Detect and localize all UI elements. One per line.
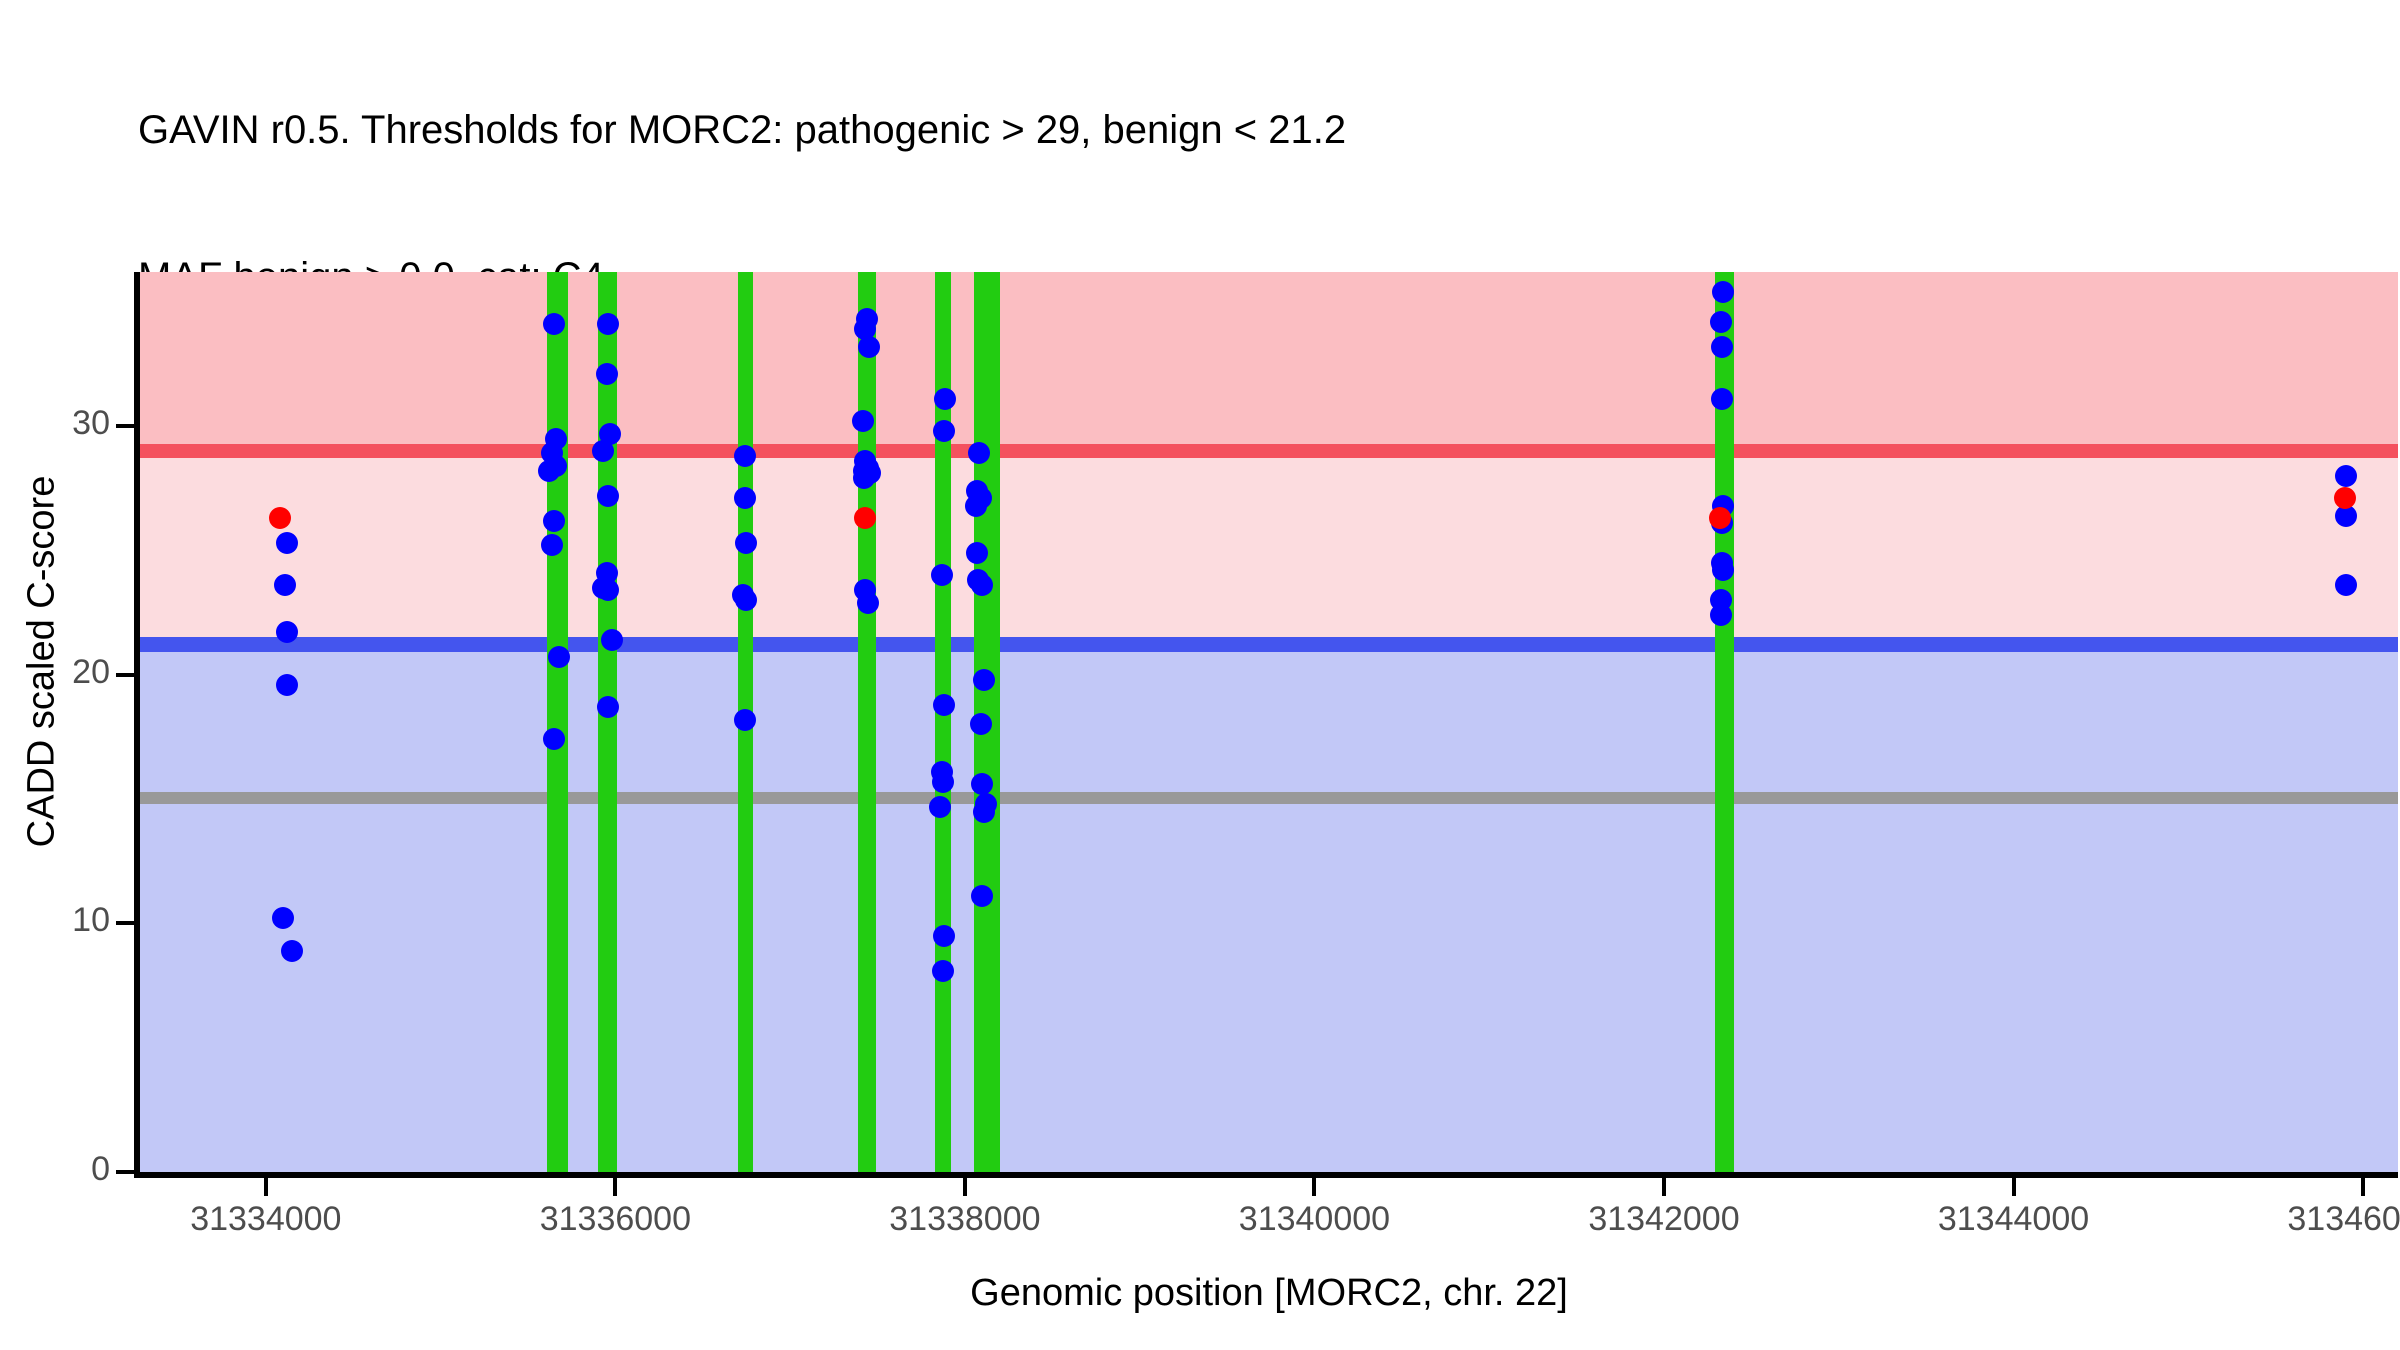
clinvar-variant-point xyxy=(269,507,291,529)
gnomad-variant-point xyxy=(852,410,874,432)
gnomad-variant-point xyxy=(934,388,956,410)
exon-marker xyxy=(598,272,617,1172)
x-axis-tick-label: 31342000 xyxy=(1514,1200,1814,1239)
gnomad-variant-point xyxy=(858,336,880,358)
gnomad-variant-point xyxy=(735,532,757,554)
band-fallback-threshold-line xyxy=(140,792,2398,804)
y-axis-line xyxy=(134,272,140,1178)
gnomad-variant-point xyxy=(276,532,298,554)
gnomad-variant-point xyxy=(543,510,565,532)
x-axis-label: Genomic position [MORC2, chr. 22] xyxy=(140,1272,2398,1315)
gnomad-variant-point xyxy=(965,495,987,517)
gnomad-variant-point xyxy=(601,629,623,651)
x-axis-tick-label: 31346000 xyxy=(2213,1200,2400,1239)
y-axis-tick xyxy=(116,1170,134,1174)
gnomad-variant-point xyxy=(1711,388,1733,410)
gnomad-variant-point xyxy=(597,485,619,507)
gnomad-variant-point xyxy=(933,925,955,947)
x-axis-line xyxy=(134,1172,2398,1178)
gnomad-variant-point xyxy=(933,420,955,442)
gnomad-variant-point xyxy=(545,455,567,477)
gnomad-variant-point xyxy=(281,940,303,962)
gnomad-variant-point xyxy=(970,713,992,735)
gnomad-variant-point xyxy=(966,542,988,564)
gnomad-variant-point xyxy=(2335,574,2357,596)
y-axis-label: CADD scaled C-score xyxy=(21,312,64,1012)
title-line-1: GAVIN r0.5. Thresholds for MORC2: pathog… xyxy=(138,106,2238,155)
x-axis-tick xyxy=(1662,1178,1666,1196)
gnomad-variant-point xyxy=(932,960,954,982)
scatter-plot-panel xyxy=(140,272,2398,1172)
gnomad-variant-point xyxy=(1710,604,1732,626)
gnomad-variant-point xyxy=(1711,336,1733,358)
y-axis-tick-label: 0 xyxy=(0,1150,110,1189)
gnomad-variant-point xyxy=(973,669,995,691)
band-pathogenic-region xyxy=(140,272,2398,444)
x-axis-tick-label: 31334000 xyxy=(116,1200,416,1239)
gnomad-variant-point xyxy=(276,674,298,696)
gnomad-variant-point xyxy=(933,694,955,716)
gnomad-variant-point xyxy=(734,487,756,509)
gnomad-variant-point xyxy=(971,773,993,795)
x-axis-tick-label: 31336000 xyxy=(465,1200,765,1239)
gnomad-variant-point xyxy=(2335,465,2357,487)
gnomad-variant-point xyxy=(973,801,995,823)
x-axis-tick xyxy=(2012,1178,2016,1196)
gnomad-variant-point xyxy=(735,589,757,611)
gnomad-variant-point xyxy=(1710,311,1732,333)
x-axis-tick-label: 31338000 xyxy=(815,1200,1115,1239)
clinvar-variant-point xyxy=(2334,487,2356,509)
band-benign-threshold-line xyxy=(140,637,2398,652)
gnomad-variant-point xyxy=(734,445,756,467)
band-benign-region xyxy=(140,652,2398,1172)
gnomad-variant-point xyxy=(734,709,756,731)
x-axis-tick xyxy=(264,1178,268,1196)
x-axis-tick xyxy=(613,1178,617,1196)
exon-marker xyxy=(547,272,568,1172)
x-axis-tick-label: 31344000 xyxy=(1864,1200,2164,1239)
gnomad-variant-point xyxy=(971,574,993,596)
gnomad-variant-point xyxy=(596,363,618,385)
gnomad-variant-point xyxy=(929,796,951,818)
y-axis-tick xyxy=(116,921,134,925)
exon-marker xyxy=(858,272,875,1172)
x-axis-tick xyxy=(963,1178,967,1196)
gnomad-variant-point xyxy=(1712,559,1734,581)
clinvar-variant-point xyxy=(1709,507,1731,529)
x-axis-tick-label: 31340000 xyxy=(1164,1200,1464,1239)
gnomad-variant-point xyxy=(857,592,879,614)
x-axis-tick xyxy=(2361,1178,2365,1196)
band-vous-region xyxy=(140,458,2398,637)
x-axis-tick xyxy=(1312,1178,1316,1196)
gnomad-variant-point xyxy=(932,771,954,793)
y-axis-tick xyxy=(116,673,134,677)
band-pathogenic-threshold-line xyxy=(140,444,2398,459)
gnomad-variant-point xyxy=(592,440,614,462)
y-axis-tick xyxy=(116,424,134,428)
